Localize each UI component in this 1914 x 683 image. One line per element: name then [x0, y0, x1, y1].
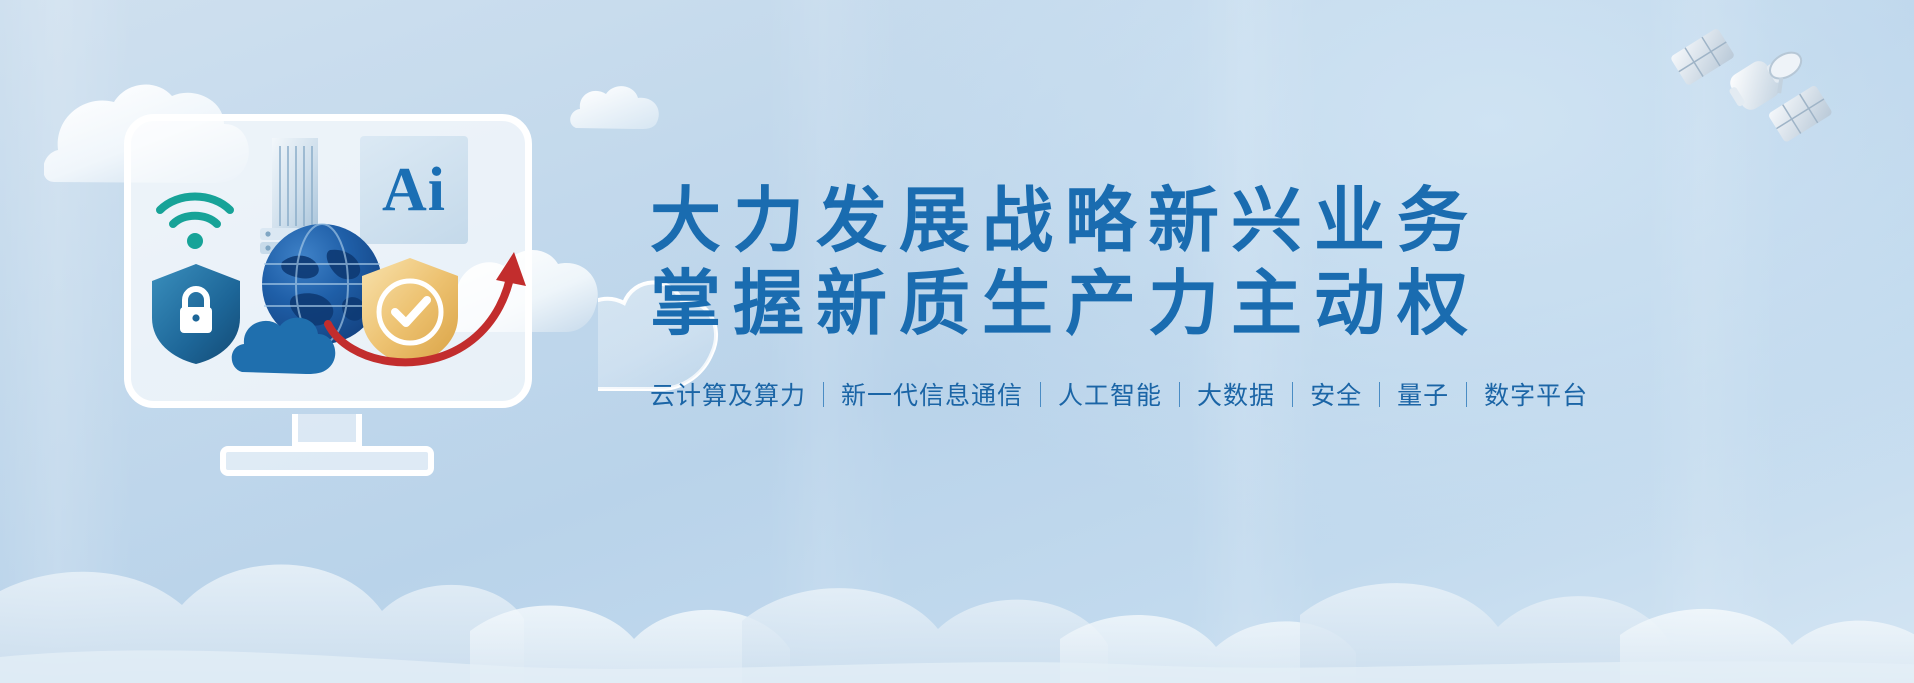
wifi-icon: [154, 188, 240, 254]
keyword-tag-row: 云计算及算力 新一代信息通信 人工智能 大数据 安全 量子 数字平台: [650, 376, 1880, 412]
banner-text-block: 大力发展战略新兴业务 掌握新质生产力主动权 云计算及算力 新一代信息通信 人工智…: [650, 182, 1880, 412]
tag-artificial-intelligence: 人工智能: [1058, 376, 1162, 412]
tag-separator: [1379, 382, 1380, 407]
headline-line-2: 掌握新质生产力主动权: [650, 265, 1880, 344]
tag-quantum: 量子: [1397, 376, 1449, 412]
bottom-cloud-band: [0, 453, 1914, 683]
monitor-base: [220, 446, 434, 476]
tag-cloud-computing: 云计算及算力: [650, 376, 806, 412]
tag-separator: [1466, 382, 1467, 407]
ai-label: Ai: [382, 155, 446, 226]
headline-line-1: 大力发展战略新兴业务: [650, 182, 1880, 261]
cloud-small-top: [570, 84, 666, 132]
tag-separator: [1179, 382, 1180, 407]
promo-banner: Ai: [0, 0, 1914, 683]
tag-separator: [1040, 382, 1041, 407]
tag-next-gen-comms: 新一代信息通信: [841, 376, 1023, 412]
monitor-neck: [292, 414, 362, 448]
tag-security: 安全: [1310, 376, 1362, 412]
satellite-icon: [1668, 26, 1844, 156]
tag-separator: [1292, 382, 1293, 407]
tag-digital-platform: 数字平台: [1484, 376, 1588, 412]
tag-separator: [823, 382, 824, 407]
computer-monitor: Ai: [92, 96, 562, 486]
arrow-swoosh-icon: [320, 228, 532, 378]
tag-big-data: 大数据: [1197, 376, 1275, 412]
